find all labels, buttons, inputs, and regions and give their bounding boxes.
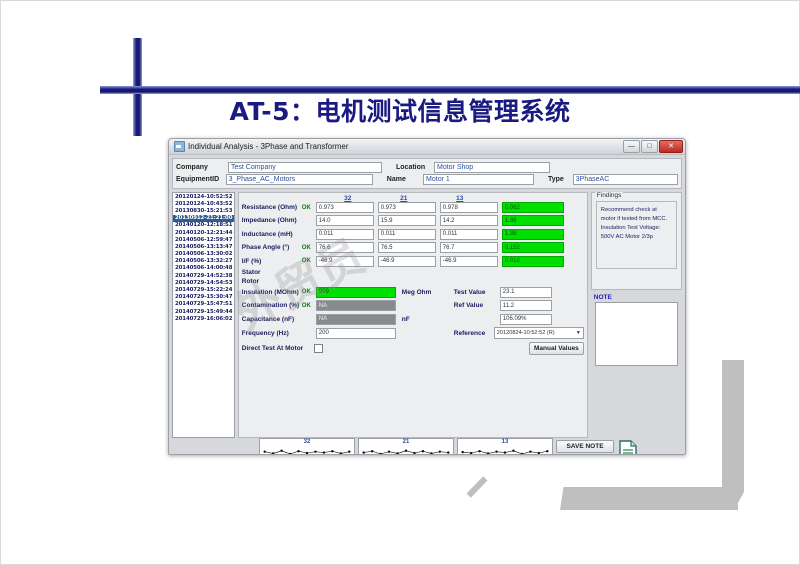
list-item[interactable]: 20140120-12:21:44 [173,229,234,236]
list-item[interactable]: 20140120-12:18:51 [173,222,234,229]
trend-data-point [348,450,350,452]
list-item[interactable]: 20140506-14:00:48 [173,265,234,272]
measurement-value-21[interactable]: -46.9 [378,256,436,267]
trend-data-point [405,450,407,452]
trend-data-point [331,450,333,452]
trend-data-point [422,450,424,452]
action-buttons-panel: SAVE NOTE TREND Rotor [556,438,682,455]
measurement-column-header: 21 [376,195,432,202]
app-icon [174,141,185,152]
close-button[interactable]: ✕ [659,140,683,153]
insulation-value[interactable]: 999 [316,287,396,298]
trend-data-point [263,450,265,452]
contamination-status: OK [302,303,316,309]
decor-bar-horizontal [560,487,738,510]
findings-panel: Findings Recommend check at motor if tes… [591,192,682,438]
measurement-value-21[interactable]: 0.973 [378,202,436,213]
direct-test-label: Direct Test At Motor [242,345,314,352]
measurement-deviation: 0.018 [502,256,564,267]
type-label: Type [548,176,573,183]
measurement-value-32[interactable]: 76.6 [316,242,374,253]
trend-charts: 3223.7 % Sdev -0.15 %2122.4 % Sdev 0.06 … [259,438,553,455]
measurement-row: Inductance (mH)0.0110.0110.0111.36 [242,229,584,240]
trend-data-point [512,450,514,452]
note-textarea[interactable] [595,302,678,366]
save-note-button[interactable]: SAVE NOTE [556,440,614,453]
list-item[interactable]: 20120124-10:43:52 [173,200,234,207]
measurement-value-13[interactable]: 0.978 [440,202,498,213]
header-fields: Company Test Company Location Motor Shop… [172,158,682,189]
reference-label: Reference [454,330,494,337]
measurement-deviation: 1.36 [502,215,564,226]
insulation-unit: Meg Ohm [402,289,454,296]
findings-text: Recommend check at motor if tested from … [596,201,677,269]
window-body: 20120124-10:52:52 (R)20120124-10:43:5220… [169,192,685,438]
measurement-row: Phase Angle (°)OK76.676.576.70.152 [242,242,584,253]
trend-data-point [478,450,480,452]
direct-test-row: Direct Test At Motor Manual Values [242,342,584,355]
equipmentid-label: EquipmentID [176,176,226,183]
trend-data-point [430,452,432,454]
name-label: Name [387,176,423,183]
capacitance-unit: nF [402,316,454,323]
report-document-icon[interactable] [618,440,638,455]
trend-data-point [413,452,415,454]
trend-chart-card[interactable]: 1323.0 % Sdev -0.31 % [457,438,553,455]
measurement-status: OK [302,245,316,251]
measurements-panel: 322113 Resistance (Ohm)OK0.9730.9730.978… [238,192,588,438]
trend-data-point [314,450,316,452]
action-button-column: SAVE NOTE TREND Rotor [556,440,614,455]
trend-data-point [439,450,441,452]
trend-data-point [487,452,489,454]
measurement-row: Resistance (Ohm)OK0.9730.9730.9780.062 [242,202,584,213]
measurement-status: OK [302,205,316,211]
charts-row: ⬇ ✖ ⬆ 3223.7 % Sdev -0.15 %2122.4 % Sdev… [169,438,685,455]
capacitance-row: Capacitance (nF) NA nF 106.09% [242,314,584,325]
measurement-deviation: 1.36 [502,229,564,240]
trend-data-point [289,453,291,455]
frequency-value[interactable]: 200 [316,328,396,339]
measurement-deviation: 0.062 [502,202,564,213]
frequency-label: Frequency (Hz) [242,330,302,337]
window-title: Individual Analysis - 3Phase and Transfo… [188,142,349,151]
measurement-column-header: 13 [432,195,488,202]
test-value-label: Test Value [454,289,500,296]
trend-data-point [447,451,449,453]
list-item[interactable]: 20120124-10:52:52 (R) [173,193,234,200]
measurement-deviation: 0.152 [502,242,564,253]
ref-value-field[interactable]: 11.2 [500,300,552,311]
contamination-row: Contamination (%) OK NA Ref Value 11.2 [242,300,584,311]
reference-select[interactable]: 20120824-10:52:52 (R) ▼ [494,327,584,339]
window-controls: — □ ✕ [623,140,683,153]
measurement-column-header: 32 [320,195,376,202]
trend-data-point [396,452,398,454]
list-item[interactable]: 20140729-16:06:02 [173,315,234,322]
chevron-down-icon: ▼ [576,330,581,336]
type-field[interactable]: 3PhaseAC [573,174,678,185]
location-label: Location [396,164,434,171]
trend-data-point [272,452,274,454]
trend-data-point [388,450,390,452]
measurement-label: Resistance (Ohm) [242,204,302,211]
trend-data-point [504,451,506,453]
list-item[interactable]: 20140506-13:30:02 [173,251,234,258]
list-item[interactable]: 20140729-15:49:44 [173,308,234,315]
trend-chart-plot [458,445,552,455]
company-field[interactable]: Test Company [228,162,382,173]
trend-chart-card[interactable]: 3223.7 % Sdev -0.15 % [259,438,355,455]
measurement-value-32[interactable]: -46.9 [316,256,374,267]
header-row-company: Company Test Company Location Motor Shop [176,162,678,173]
page-title: AT-5：电机测试信息管理系统 [0,92,800,128]
trend-data-point [529,450,531,452]
trend-chart-plot [260,445,354,455]
capacitance-value[interactable]: NA [316,314,396,325]
trend-chart-card[interactable]: 2122.4 % Sdev 0.06 % [358,438,454,455]
minimize-button[interactable]: — [623,140,640,153]
findings-group: Findings Recommend check at motor if tes… [591,192,682,290]
stator-section-label: Stator [242,269,584,276]
location-field[interactable]: Motor Shop [434,162,550,173]
list-item[interactable]: 20140729-15:30:47 [173,294,234,301]
measurement-columns-header: 322113 [320,195,584,202]
test-history-list[interactable]: 20120124-10:52:52 (R)20120124-10:43:5220… [172,192,235,438]
trend-data-point [538,452,540,454]
list-item[interactable]: 20130912-21:21:00 [173,215,234,222]
direct-test-checkbox[interactable] [314,344,323,353]
trend-data-point [546,450,548,452]
trend-data-point [340,452,342,454]
insulation-label: Insulation (MOhm) [242,289,302,296]
trend-data-point [297,450,299,452]
insulation-row: Insulation (MOhm) OK 999 Meg Ohm Test Va… [242,287,584,298]
trend-data-point [379,453,381,455]
company-label: Company [176,164,228,171]
list-item[interactable]: 20140506-13:32:27 [173,258,234,265]
insulation-status: OK [302,289,316,295]
trend-data-point [470,452,472,454]
application-window: Individual Analysis - 3Phase and Transfo… [168,138,686,455]
side-icons [618,440,638,455]
measurement-value-13[interactable]: 76.7 [440,242,498,253]
capacitance-label: Capacitance (nF) [242,316,302,323]
list-item[interactable]: 20140729-14:54:53 [173,279,234,286]
measurement-row: I/F (%)OK-46.9-46.9-46.90.018 [242,256,584,267]
contamination-value[interactable]: NA [316,300,396,311]
trend-data-point [461,451,463,453]
trend-data-point [306,452,308,454]
measurement-value-21[interactable]: 0.011 [378,229,436,240]
measurement-label: Inductance (mH) [242,231,302,238]
findings-caption: Findings [595,192,624,199]
trend-chart-plot [359,445,453,455]
note-caption: NOTE [594,294,682,301]
trend-data-point [280,450,282,452]
measurement-status: OK [302,258,316,264]
list-nav-icons: ⬇ ✖ ⬆ [172,454,256,455]
measurement-value-32[interactable]: 0.011 [316,229,374,240]
reference-select-value: 20120824-10:52:52 (R) [497,330,555,336]
contamination-label: Contamination (%) [242,302,302,309]
window-titlebar: Individual Analysis - 3Phase and Transfo… [169,139,685,155]
decor-bar-vertical [722,360,744,510]
frequency-row: Frequency (Hz) 200 Reference 20120824-10… [242,327,584,339]
maximize-button[interactable]: □ [641,140,658,153]
name-field[interactable]: Motor 1 [423,174,534,185]
measurement-label: Phase Angle (°) [242,244,302,251]
list-item[interactable]: 20140729-15:47:51 [173,301,234,308]
trend-data-point [323,451,325,453]
measurement-value-21[interactable]: 76.5 [378,242,436,253]
list-item[interactable]: 20140729-15:22:24 [173,286,234,293]
list-item[interactable]: 20140729-14:52:38 [173,272,234,279]
percent-field: 106.09% [500,314,552,325]
trend-data-point [521,453,523,455]
measurement-row: Impedance (Ohm)14.015.914.21.36 [242,215,584,226]
measurement-rows: Resistance (Ohm)OK0.9730.9730.9780.062Im… [242,202,584,267]
ref-value-label: Ref Value [454,302,500,309]
measurement-value-21[interactable]: 15.9 [378,215,436,226]
trend-data-point [362,451,364,453]
measurement-label: I/F (%) [242,258,302,265]
list-item[interactable]: 20130830-15:21:53 [173,207,234,214]
test-value-field[interactable]: 23.1 [500,287,552,298]
header-row-equipment: EquipmentID 3_Phase_AC_Motors Name Motor… [176,174,678,185]
trend-data-point [371,450,373,452]
measurement-value-13[interactable]: -46.9 [440,256,498,267]
measurement-label: Impedance (Ohm) [242,217,302,224]
measurement-value-32[interactable]: 14.0 [316,215,374,226]
rotor-section-label: Rotor [242,278,584,285]
test-history-scroll[interactable]: 20120124-10:52:52 (R)20120124-10:43:5220… [173,193,234,437]
measurement-value-32[interactable]: 0.973 [316,202,374,213]
list-item[interactable]: 20140506-12:59:47 [173,236,234,243]
trend-data-point [495,450,497,452]
measurement-value-13[interactable]: 14.2 [440,215,498,226]
manual-values-button[interactable]: Manual Values [529,342,584,355]
list-item[interactable]: 20140506-13:13:47 [173,243,234,250]
measurement-value-13[interactable]: 0.011 [440,229,498,240]
equipmentid-field[interactable]: 3_Phase_AC_Motors [226,174,373,185]
note-section: NOTE [591,292,682,369]
